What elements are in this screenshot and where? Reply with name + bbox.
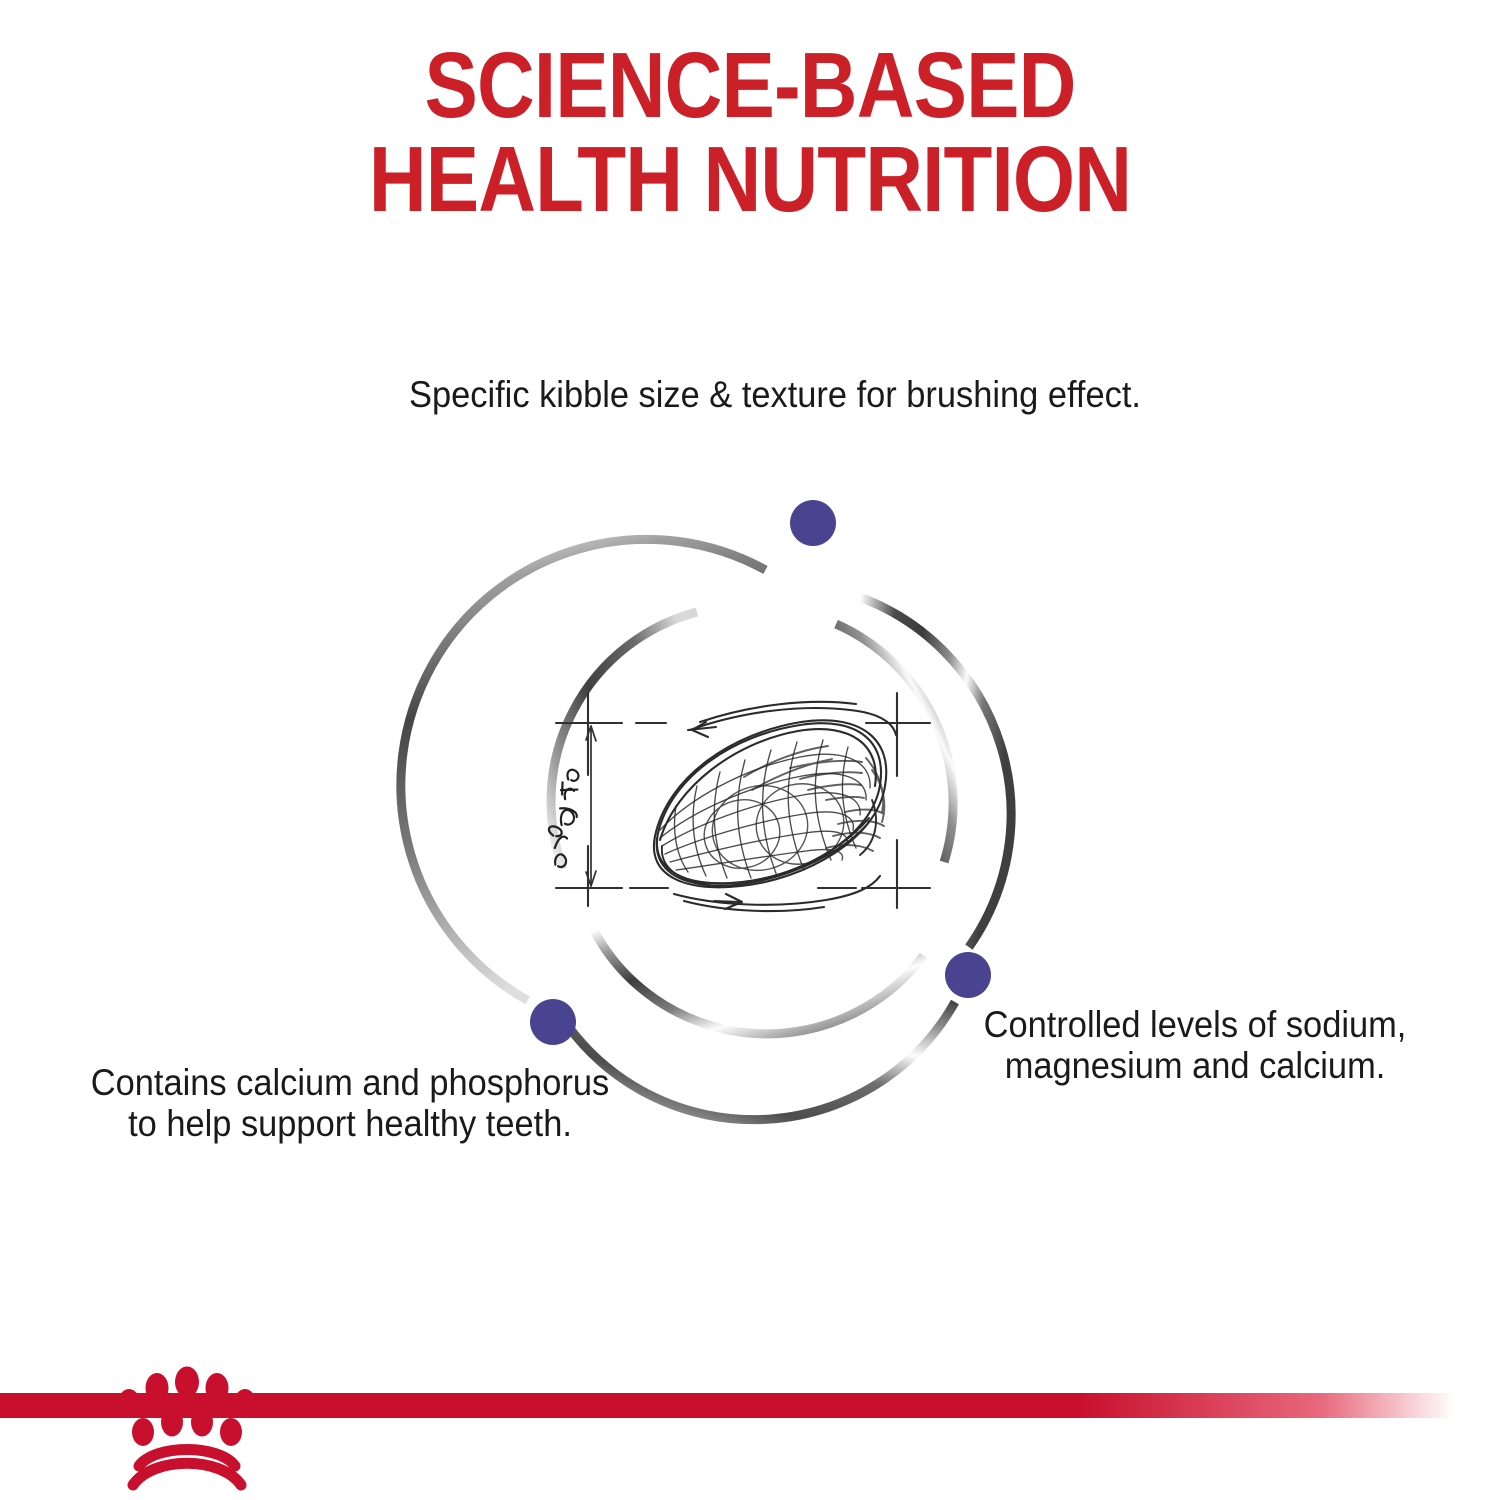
callout-kibble-texture: Specific kibble size & texture for brush… (408, 374, 1143, 415)
outer-ring-arc-bottom (569, 1002, 956, 1120)
dot-top[interactable] (790, 500, 836, 546)
kibble-construction-ellipses (697, 775, 852, 881)
royal-canin-crown-logo (95, 1340, 285, 1495)
page-root: SCIENCE-BASED HEALTH NUTRITION (0, 0, 1500, 1500)
callout-controlled-minerals: Controlled levels of sodium, magnesium a… (953, 1004, 1437, 1086)
inner-ring-arc-bottom (594, 931, 923, 1034)
dimension-marks (556, 693, 930, 908)
kibble-outline (654, 720, 886, 887)
callout-calcium-phosphorus: Contains calcium and phosphorus to help … (80, 1062, 619, 1144)
kibble-sketch (542, 693, 930, 911)
kibble-science-diagram (0, 0, 1500, 1500)
footer (0, 1340, 1500, 1500)
outer-ring (401, 539, 1011, 1119)
dot-bottom-left[interactable] (530, 999, 576, 1045)
inner-ring (551, 612, 953, 1034)
dot-right[interactable] (945, 952, 991, 998)
